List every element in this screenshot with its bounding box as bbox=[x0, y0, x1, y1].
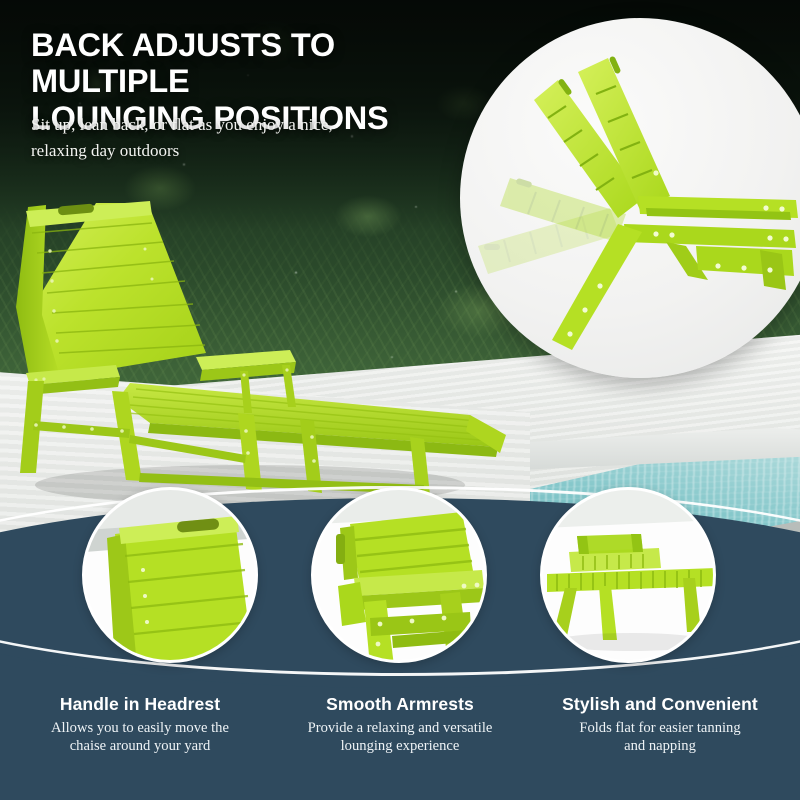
feature-thumbnails bbox=[0, 560, 800, 800]
page-subtitle: Sit up, lean back, or flat as you enjoy … bbox=[31, 112, 451, 164]
hero-inset-circle bbox=[460, 18, 800, 378]
feature-caption-2: Smooth Armrests Provide a relaxing and v… bbox=[274, 694, 526, 756]
main-chaise-lounge-image bbox=[0, 185, 520, 515]
feature-body-3-line-1: Folds flat for easier tanning bbox=[534, 719, 786, 738]
feature-body-1-line-1: Allows you to easily move the bbox=[14, 719, 266, 738]
feature-band: Handle in Headrest Allows you to easily … bbox=[0, 560, 800, 800]
feature-body-2: Provide a relaxing and versatile loungin… bbox=[274, 719, 526, 756]
headline-line-1: BACK ADJUSTS TO MULTIPLE bbox=[31, 27, 501, 99]
feature-thumb-smooth-armrests bbox=[311, 487, 487, 663]
feature-body-2-line-1: Provide a relaxing and versatile bbox=[274, 719, 526, 738]
feature-body-1: Allows you to easily move the chaise aro… bbox=[14, 719, 266, 756]
feature-caption-1: Handle in Headrest Allows you to easily … bbox=[14, 694, 266, 756]
chaise-backrest bbox=[16, 201, 206, 381]
feature-thumb-folds-flat bbox=[540, 487, 716, 663]
feature-captions: Handle in Headrest Allows you to easily … bbox=[0, 694, 800, 756]
chaise-seat-frame-inset bbox=[624, 196, 798, 248]
product-marketing-image: BACK ADJUSTS TO MULTIPLE LOUNGING POSITI… bbox=[0, 0, 800, 800]
subhead-line-1: Sit up, lean back, or flat as you enjoy … bbox=[31, 112, 451, 138]
feature-title-1: Handle in Headrest bbox=[14, 694, 266, 714]
feature-thumb-handle-in-headrest bbox=[82, 487, 258, 663]
feature-title-3: Stylish and Convenient bbox=[534, 694, 786, 714]
feature-caption-3: Stylish and Convenient Folds flat for ea… bbox=[534, 694, 786, 756]
feature-body-2-line-2: lounging experience bbox=[274, 737, 526, 756]
feature-body-3-line-2: and napping bbox=[534, 737, 786, 756]
feature-body-1-line-2: chaise around your yard bbox=[14, 737, 266, 756]
subhead-line-2: relaxing day outdoors bbox=[31, 138, 451, 164]
feature-body-3: Folds flat for easier tanning and nappin… bbox=[534, 719, 786, 756]
feature-title-2: Smooth Armrests bbox=[274, 694, 526, 714]
